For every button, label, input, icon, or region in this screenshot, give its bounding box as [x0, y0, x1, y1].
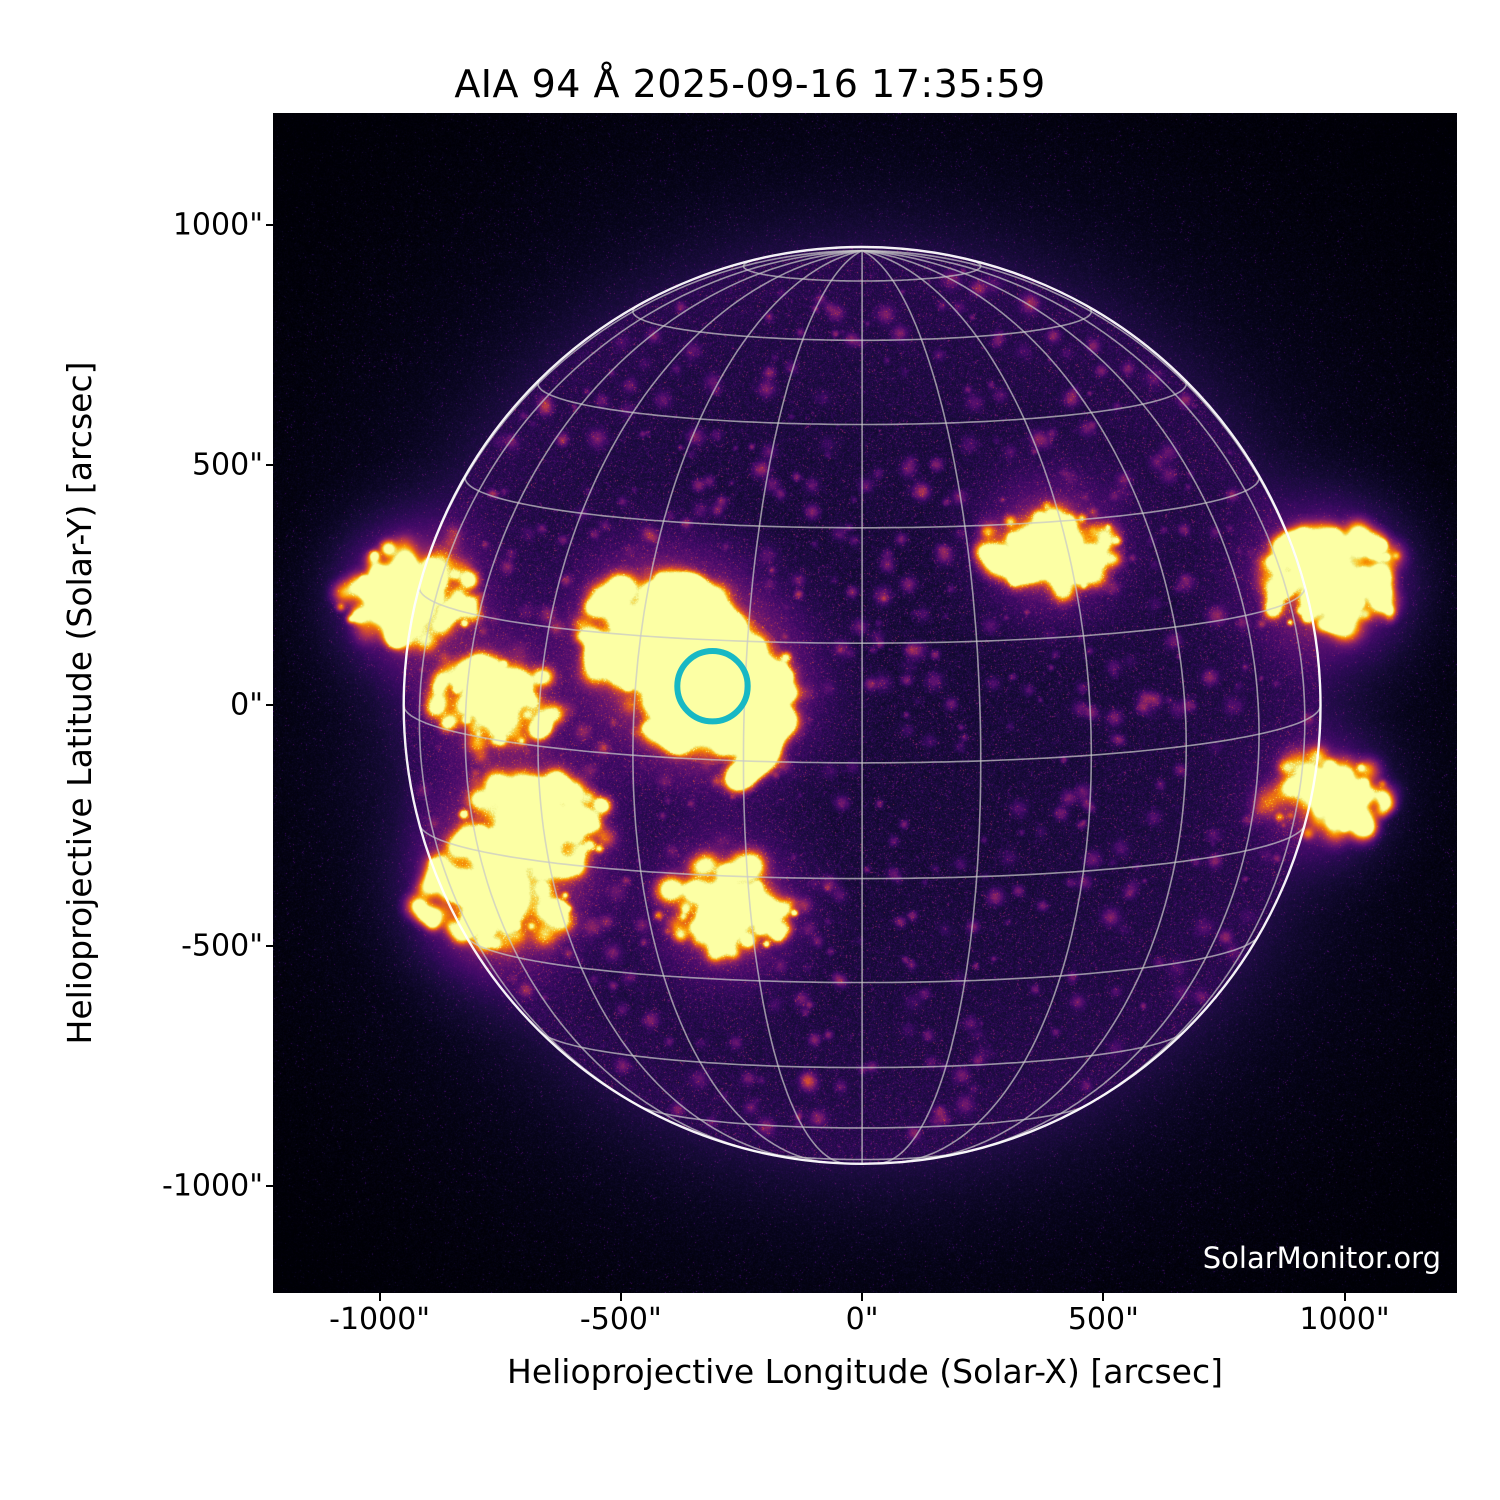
plot-area[interactable]: SolarMonitor.org — [273, 113, 1457, 1293]
y-tick-label: 1000" — [173, 207, 263, 242]
x-tick-mark — [861, 1293, 863, 1301]
y-tick-mark — [266, 945, 274, 947]
x-tick-label: 500" — [1068, 1302, 1139, 1337]
solar-image-figure: AIA 94 Å 2025-09-16 17:35:59 Helioprojec… — [0, 0, 1500, 1500]
x-tick-mark — [1344, 1293, 1346, 1301]
x-tick-mark — [1102, 1293, 1104, 1301]
y-tick-mark — [266, 1185, 274, 1187]
y-tick-mark — [266, 704, 274, 706]
x-tick-label: 1000" — [1300, 1302, 1390, 1337]
x-tick-mark — [379, 1293, 381, 1301]
y-tick-mark — [266, 464, 274, 466]
page-title: AIA 94 Å 2025-09-16 17:35:59 — [0, 62, 1500, 106]
y-tick-label: 500" — [192, 447, 263, 482]
active-region-highlight[interactable] — [677, 651, 747, 721]
watermark-label: SolarMonitor.org — [1203, 1241, 1441, 1275]
y-tick-mark — [266, 224, 274, 226]
x-tick-mark — [620, 1293, 622, 1301]
x-axis-label: Helioprojective Longitude (Solar-X) [arc… — [273, 1352, 1457, 1391]
x-tick-label: 0" — [846, 1302, 879, 1337]
active-region-highlight-overlay[interactable] — [273, 113, 1457, 1293]
y-tick-label: -1000" — [162, 1169, 263, 1204]
x-tick-label: -1000" — [329, 1302, 430, 1337]
x-tick-label: -500" — [580, 1302, 662, 1337]
y-tick-label: -500" — [181, 928, 263, 963]
y-axis-label: Helioprojective Latitude (Solar-Y) [arcs… — [60, 113, 99, 1293]
y-tick-label: 0" — [230, 688, 263, 723]
